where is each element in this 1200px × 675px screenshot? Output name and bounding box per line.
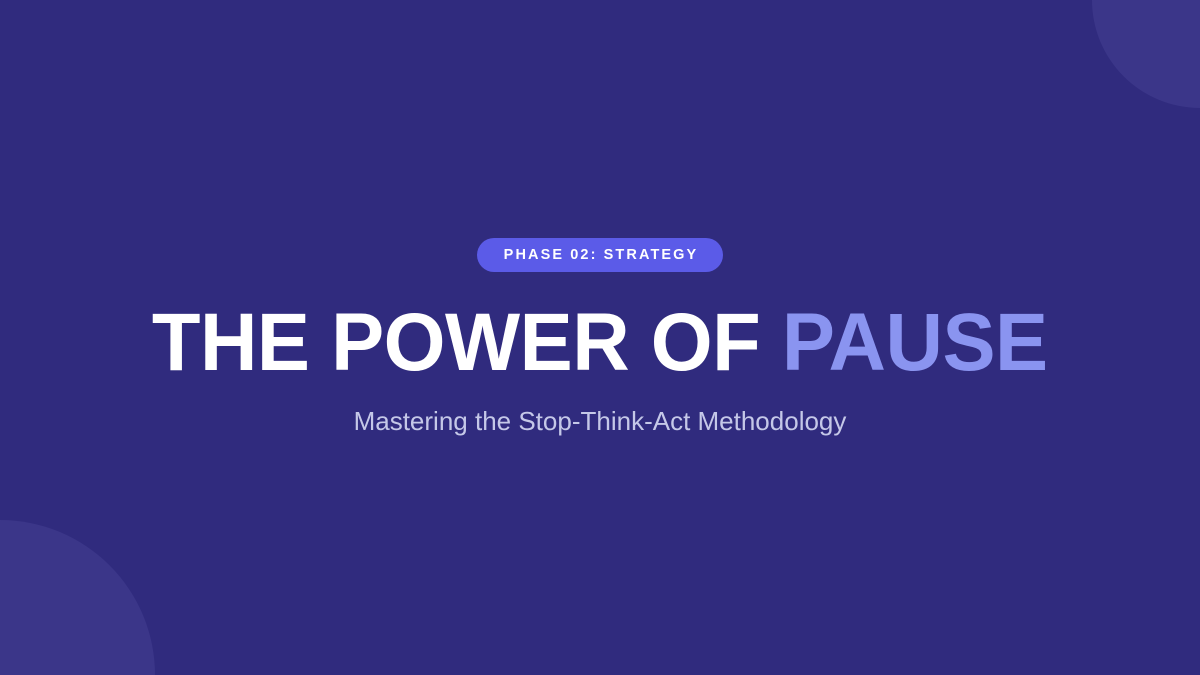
slide-title-accent: PAUSE — [782, 297, 1048, 388]
slide-title: THE POWER OF PAUSE — [152, 302, 1048, 384]
slide-title-primary: THE POWER OF — [152, 297, 782, 388]
phase-badge: PHASE 02: STRATEGY — [477, 238, 724, 272]
slide-content: PHASE 02: STRATEGY THE POWER OF PAUSE Ma… — [0, 0, 1200, 675]
slide-subtitle: Mastering the Stop-Think-Act Methodology — [354, 406, 847, 437]
title-slide: PHASE 02: STRATEGY THE POWER OF PAUSE Ma… — [0, 0, 1200, 675]
